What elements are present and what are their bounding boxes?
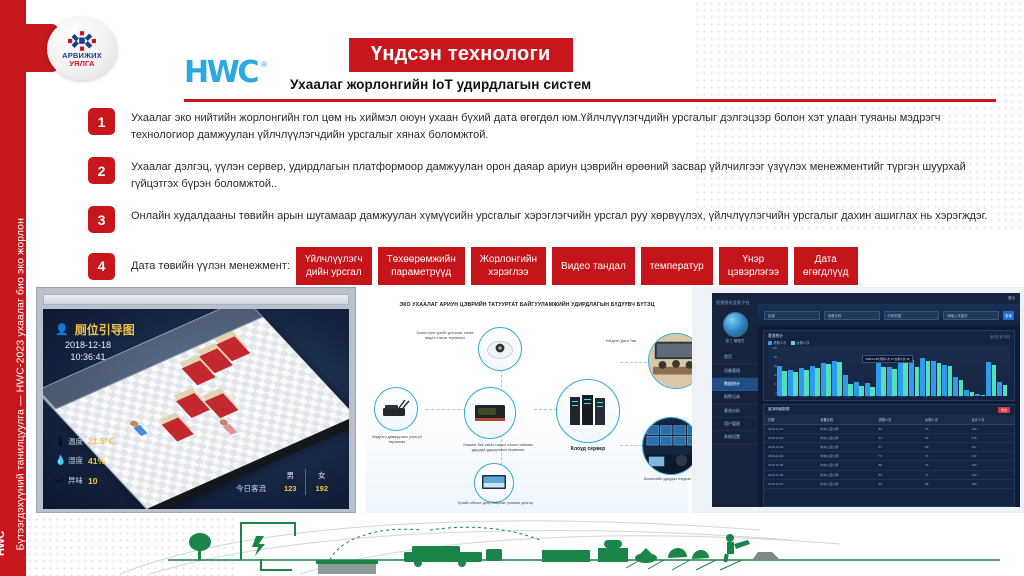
tag-data-records[interactable]: Дата өгөгдлүүд xyxy=(794,247,857,285)
controller-node xyxy=(464,387,516,439)
bar-female[interactable] xyxy=(804,370,809,396)
panel1-time: 10:36:41 xyxy=(65,351,111,363)
display-node xyxy=(474,463,514,503)
points-list: 1 Ухаалаг эко нийтийн жорлонгийн гол цөм… xyxy=(88,108,1008,285)
bar-group[interactable] xyxy=(942,348,952,396)
table-column-header[interactable]: 日期 xyxy=(764,415,816,425)
bar-male[interactable] xyxy=(843,375,848,396)
bar-female[interactable] xyxy=(970,392,975,396)
y-tick: 20 xyxy=(769,383,777,386)
x-tick: 12-12 xyxy=(898,396,908,398)
bar-female[interactable] xyxy=(848,384,853,396)
y-tick: 100 xyxy=(769,347,777,350)
data-dashboard-panel: 智慧厕所监管平台 张三 管理员 首页 设备管理 数据统计 报警记录 客流分析 用… xyxy=(692,287,1024,513)
stat-value: 41% xyxy=(88,456,105,466)
bar-female[interactable] xyxy=(959,380,964,396)
dashboard-menu: 首页 设备管理 数据统计 报警记录 客流分析 用户管理 系统设置 xyxy=(712,351,758,445)
stat-value: 10 xyxy=(88,476,97,486)
table-cell: 91 xyxy=(875,433,921,442)
x-tick: 12-10 xyxy=(876,396,886,398)
table-row[interactable]: 2018-12-07中央公园公厕9288180 xyxy=(764,479,1014,488)
sidebar-item-users[interactable]: 用户管理 xyxy=(712,418,758,431)
connector xyxy=(426,409,466,410)
region-select[interactable]: 区域 xyxy=(764,311,820,320)
bar-male[interactable] xyxy=(909,360,914,396)
bar-female[interactable] xyxy=(1003,385,1008,396)
legend-label: 女厕人次 xyxy=(797,340,810,345)
bar-female[interactable] xyxy=(782,371,787,396)
table-column-header[interactable]: 女厕人次 xyxy=(921,415,967,425)
table-title: 客流明细数据 xyxy=(768,407,790,412)
bar-female[interactable] xyxy=(793,372,798,396)
stat-label: 温度 xyxy=(68,436,83,447)
dashboard-sidebar: 智慧厕所监管平台 张三 管理员 首页 设备管理 数据统计 报警记录 客流分析 用… xyxy=(712,293,758,507)
flow-value-female: 192 xyxy=(306,482,337,495)
bar-male[interactable] xyxy=(788,370,793,396)
table-cell: 167 xyxy=(968,442,1014,451)
table-cell: 180 xyxy=(968,479,1014,488)
humidity-icon: 💧 xyxy=(55,455,63,466)
table-cell: 中央公园公厕 xyxy=(816,433,874,442)
motion-sensor-label: Зочин ирэх үрийн урсгалыг хянах видео ст… xyxy=(414,331,476,341)
stat-humidity: 💧 湿度 41% xyxy=(55,455,115,466)
server-rack-icon xyxy=(567,394,609,428)
bar-male[interactable] xyxy=(964,390,969,396)
left-sidebar: Бүтээгдэхүүний танилцуулга — HWC-2023 ух… xyxy=(0,0,26,576)
cloud-server-label: Клоуд сервер xyxy=(552,447,624,452)
logo-line-2: УЯЛГА xyxy=(69,60,94,68)
list-item: 2 Ухаалаг дэлгэц, үүлэн сервер, удирдлаг… xyxy=(88,157,1008,192)
sidebar-item-alarms[interactable]: 报警记录 xyxy=(712,391,758,404)
bar-female[interactable] xyxy=(837,362,842,396)
chart-header: 客流统计 近7日 近30日 xyxy=(768,334,1010,339)
x-tick: 12-02 xyxy=(788,396,798,398)
table-cell: 2018-12-01 xyxy=(764,424,816,433)
y-tick: 0 xyxy=(769,392,777,395)
table-cell: 中央公园公厕 xyxy=(816,442,874,451)
bar-male[interactable] xyxy=(777,366,782,396)
x-tick: 12-13 xyxy=(909,396,919,398)
sidebar-item-statistics[interactable]: 数据统计 xyxy=(712,378,758,391)
table-cell: 中央公园公厕 xyxy=(816,461,874,470)
table-cell: 2018-12-06 xyxy=(764,470,816,479)
chart-y-axis: 100806040200 xyxy=(769,347,777,395)
stall xyxy=(162,417,194,441)
point-number: 1 xyxy=(88,108,115,135)
table-cell: 89 xyxy=(875,470,921,479)
cloud-server-node xyxy=(556,379,620,443)
bar-group[interactable] xyxy=(843,348,853,396)
point-number: 3 xyxy=(88,206,115,233)
search-button[interactable]: 查询 xyxy=(1003,311,1014,320)
x-tick: 12-05 xyxy=(821,396,831,398)
point-text: Ухаалаг эко нийтийн жорлонгийн гол цөм н… xyxy=(131,108,1001,143)
filter-bar: 区域 设备名称 时间范围 请输入关键字 查询 xyxy=(758,304,1020,326)
logo-emblem-icon xyxy=(68,31,96,51)
legend-label: 男厕人次 xyxy=(774,340,787,345)
bar-male[interactable] xyxy=(920,358,925,396)
meeting-room-label: Нэгдсэн Дата Төв xyxy=(592,339,650,344)
table-cell: 175 xyxy=(968,433,1014,442)
x-tick: 12-01 xyxy=(777,396,787,398)
bar-group[interactable] xyxy=(997,348,1007,396)
logout-button[interactable]: 退出 xyxy=(1008,296,1015,301)
table-row[interactable]: 2018-12-05中央公园公厕8874162 xyxy=(764,461,1014,470)
bar-male[interactable] xyxy=(887,367,892,396)
bar-female[interactable] xyxy=(870,387,875,396)
dashboard-user: 张三 管理员 xyxy=(712,339,758,344)
table-cell: 中央公园公厕 xyxy=(816,424,874,433)
chart-title: 客流统计 xyxy=(768,334,783,339)
dashboard-main: 退出 区域 设备名称 时间范围 请输入关键字 查询 客流统计 近7日 近30日 xyxy=(758,293,1020,507)
tag-group: Үйлчлүүлэгч дийн урсгал Төхөөрөмжийн пар… xyxy=(296,247,858,285)
bar-male[interactable] xyxy=(854,382,859,396)
list-item-4: 4 Дата төвийн үүлэн менежмент: Үйлчлүүлэ… xyxy=(88,247,1008,285)
chart-tooltip: 2018-12-09 男厕人次: 67 女厕人次: 59 xyxy=(862,355,912,363)
dashboard-topbar: 退出 xyxy=(758,293,1020,304)
company-logo: АРВИЖИХ УЯЛГА xyxy=(47,18,117,80)
bar-group[interactable] xyxy=(777,348,787,396)
table-cell: 88 xyxy=(875,461,921,470)
legend-item-female[interactable]: 女厕人次 xyxy=(791,340,809,345)
table-column-header[interactable]: 男厕人次 xyxy=(875,415,921,425)
x-tick: 12-08 xyxy=(854,396,864,398)
dashboard: 智慧厕所监管平台 张三 管理员 首页 设备管理 数据统计 报警记录 客流分析 用… xyxy=(712,293,1020,507)
bar-male[interactable] xyxy=(931,361,936,396)
legend-swatch xyxy=(768,341,772,345)
tag-temperature[interactable]: температур xyxy=(641,247,713,285)
panel1-visitor-flow: 男 女 今日客流 123 192 xyxy=(227,469,337,495)
point4-label: Дата төвийн үүлэн менежмент: xyxy=(131,260,290,272)
chart-x-axis: 12-0112-0212-0312-0412-0512-0612-0712-08… xyxy=(768,396,1010,398)
flow-header-male: 男 xyxy=(275,469,306,482)
search-input[interactable]: 请输入关键字 xyxy=(943,311,999,320)
screen-icon xyxy=(481,474,507,492)
tag-odor-cleaning[interactable]: Үнэр цэвэрлэгээ xyxy=(719,247,788,285)
bar-male[interactable] xyxy=(832,361,837,396)
flow-label: 今日客流 xyxy=(227,482,275,495)
tag-customer-flow[interactable]: Үйлчлүүлэгч дийн урсгал xyxy=(296,247,372,285)
x-tick: 12-11 xyxy=(887,396,897,398)
panel1-header: 👤 厕位引导图 xyxy=(55,321,135,338)
x-tick xyxy=(986,396,996,398)
list-item: 1 Ухаалаг эко нийтийн жорлонгийн гол цөм… xyxy=(88,108,1008,143)
wireless-terminal-label: Мэдрэгч дамжуулагч утасгүй терминал xyxy=(366,435,428,445)
table-body: 2018-12-01中央公园公厕84761602018-12-02中央公园公厕9… xyxy=(764,424,1014,488)
stat-temperature: 🌡 温度 21.5℃ xyxy=(55,436,115,447)
bar-group[interactable] xyxy=(821,348,831,396)
sidebar-vertical-label: Бүтээгдэхүүний танилцуулга — HWC-2023 ух… xyxy=(16,217,27,550)
table-head-row: 日期设备名称男厕人次女厕人次合计人次 xyxy=(764,415,1014,425)
avatar[interactable] xyxy=(723,312,748,337)
table-cell: 92 xyxy=(875,479,921,488)
panel1-date: 2018-12-18 xyxy=(65,339,111,351)
sidebar-item-home[interactable]: 首页 xyxy=(712,351,758,364)
bar-group[interactable] xyxy=(810,348,820,396)
table-cell: 88 xyxy=(921,479,967,488)
bar-group[interactable] xyxy=(832,348,842,396)
table-column-header[interactable]: 设备名称 xyxy=(816,415,874,425)
tag-toilet-usage[interactable]: Жорлонгийн хэрэглээ xyxy=(471,247,546,285)
y-tick: 60 xyxy=(769,365,777,368)
bar-female[interactable] xyxy=(815,368,820,396)
chart-range-toggle[interactable]: 近7日 近30日 xyxy=(990,334,1010,339)
table-cell: 76 xyxy=(921,424,967,433)
bar-female[interactable] xyxy=(981,395,986,396)
display-label: Тухайн объект дээр байрлах ухаалаг дэлгэ… xyxy=(456,501,534,506)
table-cell: 74 xyxy=(921,461,967,470)
panel1-sensor-stats: 🌡 温度 21.5℃ 💧 湿度 41% 〰 异味 10 xyxy=(55,436,115,495)
table-cell: 80 xyxy=(921,442,967,451)
sensor-dome-icon xyxy=(487,339,513,359)
x-tick: 12-04 xyxy=(810,396,820,398)
table-cell: 2018-12-04 xyxy=(764,452,816,461)
bar-male[interactable] xyxy=(942,365,947,396)
odor-icon: 〰 xyxy=(55,474,63,487)
bar-male[interactable] xyxy=(865,383,870,396)
chart-legend: 男厕人次 女厕人次 xyxy=(768,340,1010,345)
x-tick: 12-14 xyxy=(920,396,930,398)
table-cell: 74 xyxy=(921,470,967,479)
panel1-datetime: 2018-12-18 10:36:41 xyxy=(65,339,111,363)
table-cell: 147 xyxy=(968,452,1014,461)
table-cell: 76 xyxy=(875,452,921,461)
diagram-title: ЭКО УХААЛАГ АРИУН ЦЭВРИЙН ТАТУУРГАТ БАЙГ… xyxy=(366,302,688,308)
bar-female[interactable] xyxy=(992,365,997,396)
bar-male[interactable] xyxy=(898,359,903,396)
bar-male[interactable] xyxy=(799,368,804,396)
x-tick: 12-09 xyxy=(865,396,875,398)
slide-root: Бүтээгдэхүүний танилцуулга — HWC-2023 ух… xyxy=(0,0,1024,576)
stat-label: 异味 xyxy=(68,475,83,486)
table-row[interactable]: 2018-12-03中央公园公厕8780167 xyxy=(764,442,1014,451)
avatar xyxy=(128,420,147,437)
table-row[interactable]: 2018-12-06中央公园公厕8974163 xyxy=(764,470,1014,479)
hwc-word: HWC xyxy=(184,58,257,88)
sidebar-item-settings[interactable]: 系统设置 xyxy=(712,431,758,444)
stat-label: 湿度 xyxy=(68,455,83,466)
point-number: 4 xyxy=(88,253,115,280)
panel1-stage: 👤 厕位引导图 2018-12-18 10:36:41 🌡 温度 21.5℃ 💧 xyxy=(43,309,349,509)
table-column-header[interactable]: 合计人次 xyxy=(968,415,1014,425)
x-tick: 12-16 xyxy=(942,396,952,398)
stall xyxy=(205,393,239,418)
sidebar-brand-label: HWC xyxy=(0,531,7,556)
table-header-bar: 客流明细数据 导出 xyxy=(764,407,1014,415)
architecture-diagram-panel: ЭКО УХААЛАГ АРИУН ЦЭВРИЙН ТАТУУРГАТ БАЙГ… xyxy=(366,287,688,513)
page-title: Үндсэн технологи xyxy=(349,38,573,72)
wireless-terminal-node xyxy=(374,387,418,431)
table-cell: 2018-12-03 xyxy=(764,442,816,451)
stall xyxy=(176,393,210,418)
table-card: 客流明细数据 导出 日期设备名称男厕人次女厕人次合计人次 2018-12-01中… xyxy=(763,404,1015,507)
point-text: Ухаалаг дэлгэц, үүлэн сервер, удирдлагын… xyxy=(131,157,1001,192)
header-divider xyxy=(184,99,996,102)
gender-icon: 👤 xyxy=(55,323,70,336)
controller-board-icon xyxy=(473,402,507,424)
x-tick: 12-03 xyxy=(799,396,809,398)
registered-icon: ® xyxy=(261,60,267,69)
date-range-input[interactable]: 时间范围 xyxy=(884,311,940,320)
bar-male[interactable] xyxy=(810,366,815,396)
page-subtitle: Ухаалаг жорлонгийн IoT удирдлагын систем xyxy=(290,77,591,92)
bar-male[interactable] xyxy=(821,363,826,396)
point-number: 2 xyxy=(88,157,115,184)
flow-header-female: 女 xyxy=(306,469,337,482)
panel1-title: 厕位引导图 xyxy=(75,321,135,338)
data-table: 日期设备名称男厕人次女厕人次合计人次 2018-12-01中央公园公厕84761… xyxy=(764,415,1014,489)
bar-female[interactable] xyxy=(926,361,931,396)
toilet-guidance-panel: 👤 厕位引导图 2018-12-18 10:36:41 🌡 温度 21.5℃ 💧 xyxy=(36,287,356,513)
bar-female[interactable] xyxy=(937,363,942,396)
bar-group[interactable] xyxy=(964,348,974,396)
tag-device-parameters[interactable]: Төхөөрөмжийн параметрүүд xyxy=(378,247,465,285)
x-tick: 12-18 xyxy=(964,396,974,398)
router-icon xyxy=(381,399,411,419)
x-tick xyxy=(975,396,985,398)
table-cell: 中央公园公厕 xyxy=(816,470,874,479)
x-tick: 12-15 xyxy=(931,396,941,398)
table-cell: 中央公园公厕 xyxy=(816,452,874,461)
point-text: Онлайн худалдааны төвийн арын шугамаар д… xyxy=(131,206,987,225)
table-cell: 160 xyxy=(968,424,1014,433)
table-cell: 163 xyxy=(968,470,1014,479)
table-cell: 162 xyxy=(968,461,1014,470)
bar-male[interactable] xyxy=(975,394,980,396)
table-cell: 2018-12-02 xyxy=(764,433,816,442)
thermometer-icon: 🌡 xyxy=(55,436,63,447)
panel1-titlebar xyxy=(43,294,349,305)
controller-label: Ухаалаг биє засах газрыг алсын зайнаас у… xyxy=(462,443,534,453)
table-cell: 2018-12-07 xyxy=(764,479,816,488)
device-select[interactable]: 设备名称 xyxy=(824,311,880,320)
bar-group[interactable] xyxy=(975,348,985,396)
table-cell: 中央公园公厕 xyxy=(816,479,874,488)
table-cell: 84 xyxy=(921,433,967,442)
bar-group[interactable] xyxy=(799,348,809,396)
bar-chart-plot: 100806040200 2018-12-09 男厕人次: 67 女厕人次: 5… xyxy=(768,346,1010,396)
x-tick: 12-06 xyxy=(832,396,842,398)
stat-odor: 〰 异味 10 xyxy=(55,474,115,487)
tag-video-monitoring[interactable]: Видео тандал xyxy=(552,247,635,285)
monitoring-wall-icon xyxy=(643,417,699,475)
table-cell: 87 xyxy=(875,442,921,451)
bar-group[interactable] xyxy=(788,348,798,396)
bar-female[interactable] xyxy=(948,366,953,396)
bar-male[interactable] xyxy=(997,382,1002,396)
x-tick: 12-07 xyxy=(843,396,853,398)
table-cell: 84 xyxy=(875,424,921,433)
bar-male[interactable] xyxy=(986,362,991,396)
hwc-wordmark: HWC ® xyxy=(184,58,267,88)
chart-card: 客流统计 近7日 近30日 男厕人次 女厕人次 xyxy=(763,330,1015,401)
bar-group[interactable] xyxy=(986,348,996,396)
legend-item-male[interactable]: 男厕人次 xyxy=(768,340,786,345)
footer-illustration xyxy=(0,514,1024,576)
x-tick: 12-17 xyxy=(953,396,963,398)
bar-male[interactable] xyxy=(953,377,958,396)
dot-pattern-bottom-left xyxy=(26,516,236,576)
motion-sensor-node xyxy=(478,327,522,371)
bar-female[interactable] xyxy=(892,369,897,396)
flow-value-male: 123 xyxy=(275,482,306,495)
bar-female[interactable] xyxy=(903,361,908,396)
bar-group[interactable] xyxy=(931,348,941,396)
y-tick: 80 xyxy=(769,356,777,359)
table-row[interactable]: 2018-12-02中央公园公厕9184175 xyxy=(764,433,1014,442)
bar-female[interactable] xyxy=(915,367,920,396)
sidebar-item-devices[interactable]: 设备管理 xyxy=(712,364,758,377)
bar-female[interactable] xyxy=(826,364,831,396)
dashboard-brand: 智慧厕所监管平台 xyxy=(712,297,758,309)
logo-line-1: АРВИЖИХ xyxy=(62,52,102,60)
stat-value: 21.5℃ xyxy=(88,436,115,447)
y-tick: 40 xyxy=(769,374,777,377)
table-row[interactable]: 2018-12-01中央公园公厕8476160 xyxy=(764,424,1014,433)
bar-female[interactable] xyxy=(881,367,886,396)
bar-female[interactable] xyxy=(859,386,864,396)
table-cell: 71 xyxy=(921,452,967,461)
sidebar-item-flow[interactable]: 客流分析 xyxy=(712,405,758,418)
avatar xyxy=(218,418,237,435)
legend-swatch xyxy=(791,341,795,345)
table-row[interactable]: 2018-12-04中央公园公厕7671147 xyxy=(764,452,1014,461)
table-cell: 2018-12-05 xyxy=(764,461,816,470)
bar-group[interactable] xyxy=(953,348,963,396)
bar-group[interactable] xyxy=(920,348,930,396)
list-item: 3 Онлайн худалдааны төвийн арын шугамаар… xyxy=(88,206,1008,233)
export-button[interactable]: 导出 xyxy=(998,407,1010,413)
x-tick xyxy=(997,396,1007,398)
